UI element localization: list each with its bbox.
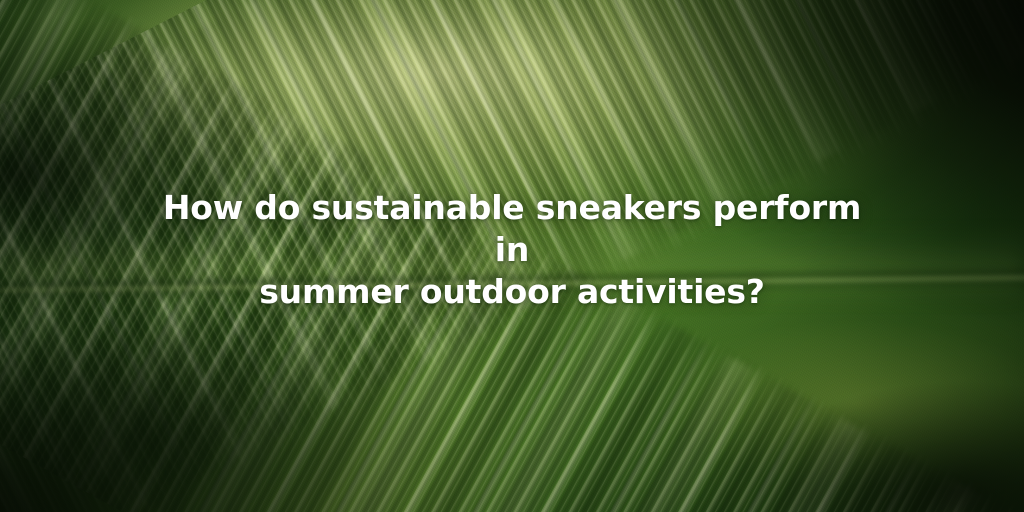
- leaf-hero-banner: How do sustainable sneakers perform in s…: [0, 0, 1024, 512]
- headline-container: How do sustainable sneakers perform in s…: [0, 0, 1024, 512]
- banner-headline: How do sustainable sneakers perform in s…: [152, 187, 872, 326]
